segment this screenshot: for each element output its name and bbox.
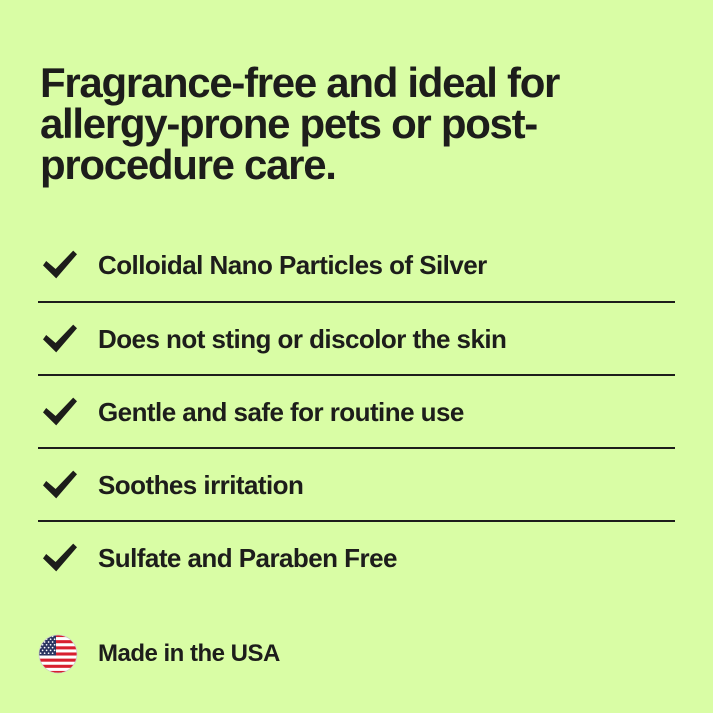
list-item: Soothes irritation xyxy=(38,447,675,520)
list-item-label: Soothes irritation xyxy=(98,470,675,500)
list-item: Colloidal Nano Particles of Silver xyxy=(38,228,675,301)
made-in-usa-label: Made in the USA xyxy=(98,634,280,674)
product-benefits-card: Fragrance-free and ideal for allergy-pro… xyxy=(0,0,713,713)
check-icon xyxy=(38,248,98,282)
check-icon xyxy=(38,468,98,502)
list-item: Sulfate and Paraben Free xyxy=(38,520,675,593)
check-icon xyxy=(38,395,98,429)
list-item-label: Does not sting or discolor the skin xyxy=(98,324,675,354)
usa-flag-icon xyxy=(38,634,78,674)
page-title-line-3: procedure care. xyxy=(40,144,660,185)
list-item-label: Colloidal Nano Particles of Silver xyxy=(98,250,675,280)
list-item-label: Sulfate and Paraben Free xyxy=(98,543,675,573)
check-icon xyxy=(38,541,98,575)
page-title-line-2: allergy-prone pets or post- xyxy=(40,103,660,144)
page-title-line-1: Fragrance-free and ideal for xyxy=(40,62,660,103)
feature-list: Colloidal Nano Particles of Silver Does … xyxy=(38,228,675,593)
list-item: Gentle and safe for routine use xyxy=(38,374,675,447)
list-item: Does not sting or discolor the skin xyxy=(38,301,675,374)
made-in-usa-badge: Made in the USA xyxy=(38,634,280,674)
list-item-label: Gentle and safe for routine use xyxy=(98,397,675,427)
page-title: Fragrance-free and ideal for allergy-pro… xyxy=(40,62,660,185)
check-icon xyxy=(38,322,98,356)
